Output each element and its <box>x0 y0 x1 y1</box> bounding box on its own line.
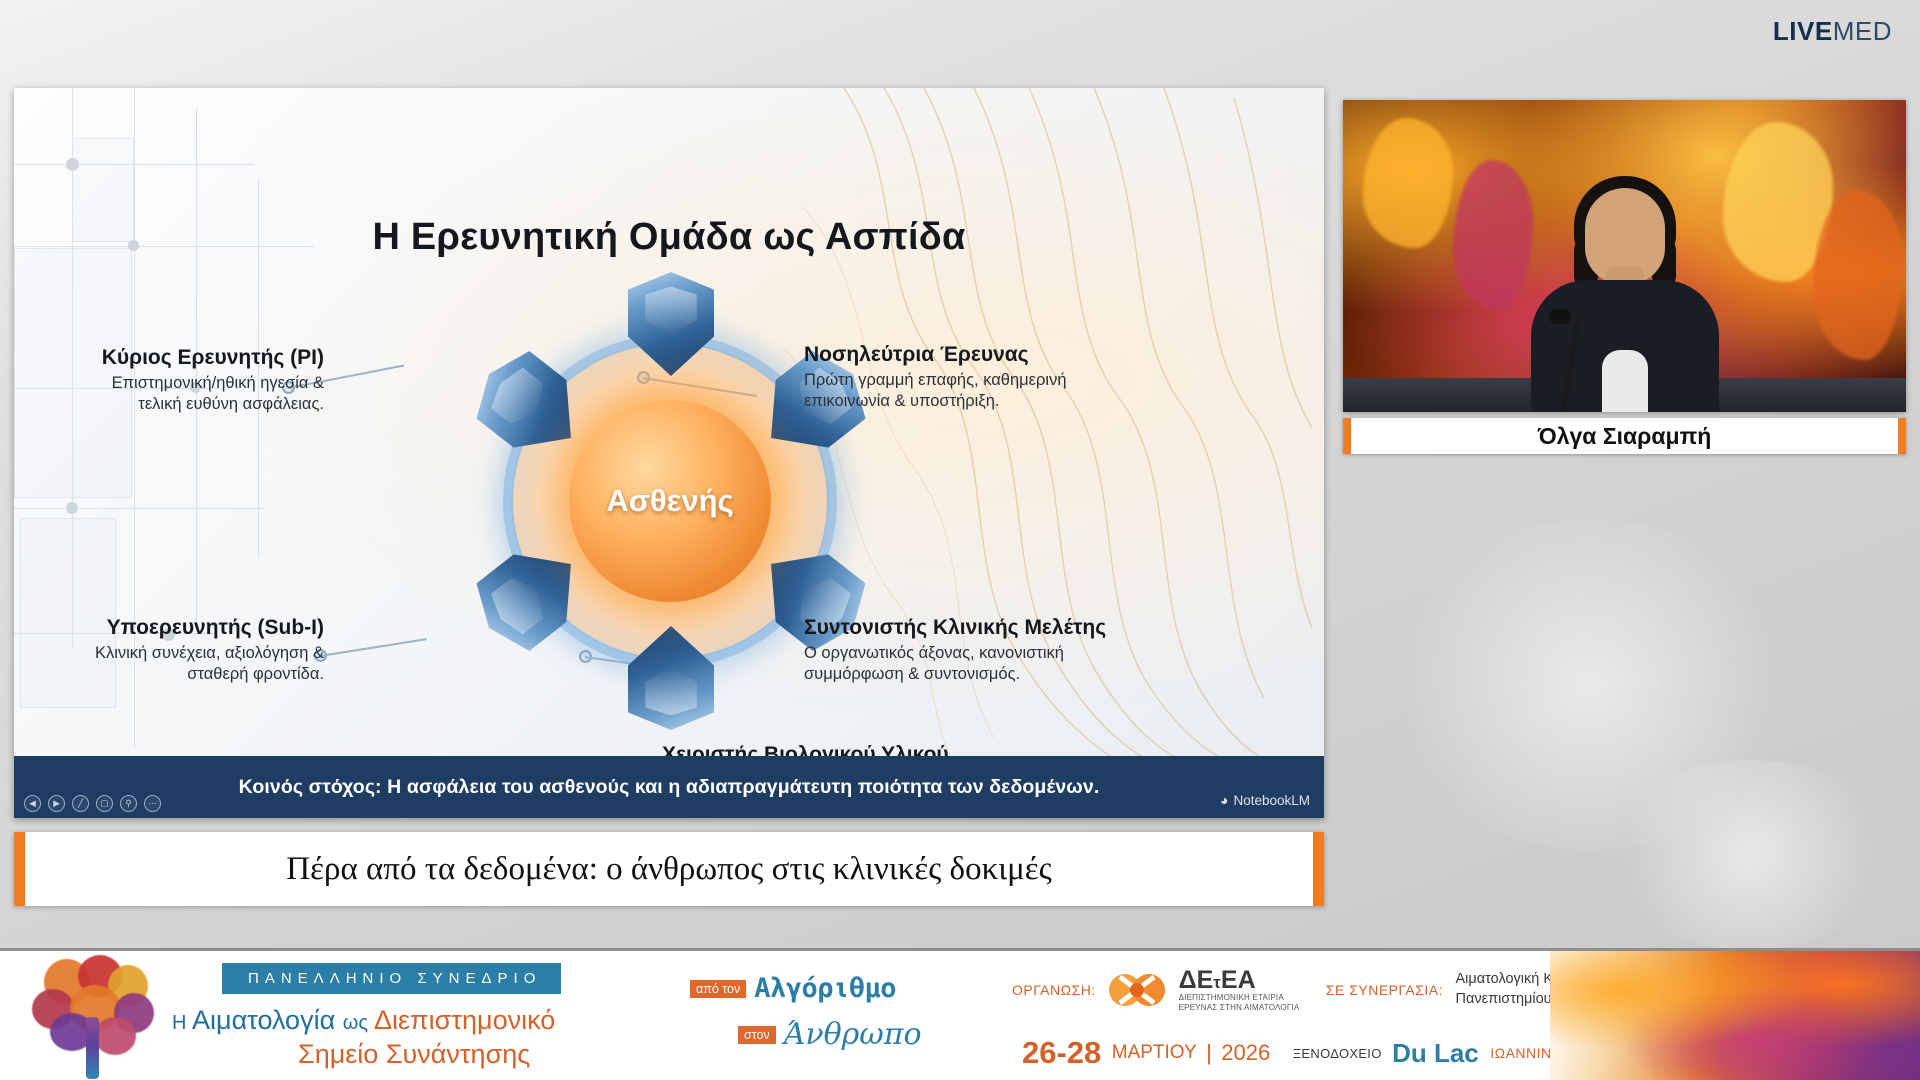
slide-title: Η Ερευνητική Ομάδα ως Ασπίδα <box>14 216 1324 259</box>
livemed-logo: LIVEMED <box>1773 18 1892 44</box>
label-research-nurse: Νοσηλεύτρια Έρευνας Πρώτη γραμμή επαφής,… <box>804 343 1104 412</box>
label-title: Κύριος Ερευνητής (PI) <box>74 346 324 370</box>
label-title: Υποερευνητής (Sub-I) <box>74 616 324 640</box>
tree-trunk <box>86 1017 99 1079</box>
patient-core-label: Ασθενής <box>606 483 733 519</box>
microphone-icon <box>1549 309 1571 324</box>
connector-line <box>320 638 427 656</box>
date-days: 26-28 <box>1022 1035 1101 1070</box>
label-desc: Ο οργανωτικός άξονας, κανονιστική συμμόρ… <box>804 643 1124 685</box>
label-title: Συντονιστής Κλινικής Μελέτης <box>804 616 1124 640</box>
algo-word-algorithm: Αλγόριθμο <box>754 973 896 1004</box>
algo-word-human: Άνθρωπο <box>784 1017 922 1052</box>
previous-icon[interactable]: ◀ <box>24 795 41 812</box>
background-watermark <box>1380 520 1800 850</box>
date-venue-row: 26-28 ΜΑΡΤΙΟΥ | 2026 ΞΕΝΟΔΟΧΕΙΟ Du Lac Ι… <box>1022 1035 1561 1071</box>
detea-name: ΔΕτΕΑ <box>1179 966 1256 994</box>
cooperation-label: ΣΕ ΣΥΝΕΡΓΑΣΙΑ: <box>1326 982 1443 998</box>
detea-subtitle-2: ΕΡΕΥΝΑΣ ΣΤΗΝ ΑΙΜΑΤΟΛΟΓΙΑ <box>1179 1003 1300 1013</box>
slide-player-controls[interactable]: ◀ ▶ ╱ ▢ ⚲ ⋯ <box>24 795 161 812</box>
pen-icon[interactable]: ╱ <box>72 795 89 812</box>
detea-logo-icon <box>1108 967 1166 1013</box>
label-desc: Κλινική συνέχεια, αξιολόγηση & σταθερή φ… <box>74 643 324 685</box>
notebooklm-badge: ◕ NotebookLM <box>1220 792 1310 808</box>
background-watermark <box>1600 760 1900 950</box>
algorithm-row: από τονΑλγόριθμο <box>690 973 896 1004</box>
label-desc: Πρώτη γραμμή επαφής, καθημερινή επικοινω… <box>804 370 1104 412</box>
date-month: ΜΑΡΤΙΟΥ <box>1112 1042 1197 1063</box>
more-icon[interactable]: ⋯ <box>144 795 161 812</box>
livemed-logo-live: LIVE <box>1773 16 1833 46</box>
speaker-shirt <box>1602 350 1648 412</box>
congress-title-line2: Σημείο Συνάντησης <box>298 1039 530 1070</box>
title-part-hematology: Αιματολογία <box>192 1005 335 1035</box>
slide-footer-text: Κοινός στόχος: Η ασφάλεια του ασθενούς κ… <box>239 776 1100 799</box>
speaker-name: Όλγα Σιαραμπή <box>1538 423 1712 450</box>
congress-badge: ΠΑΝΕΛΛΗΝΙΟ ΣΥΝΕΔΡΙΟ <box>222 963 561 994</box>
notebooklm-icon: ◕ <box>1220 792 1228 808</box>
date-separator: | <box>1206 1040 1212 1065</box>
speaker-name-bar: Όλγα Σιαραμπή <box>1343 418 1906 454</box>
label-principal-investigator: Κύριος Ερευνητής (PI) Επιστημονική/ηθική… <box>74 346 324 415</box>
title-part-os: ως <box>343 1012 368 1034</box>
algo-tag-to: στον <box>738 1026 776 1044</box>
livemed-logo-med: MED <box>1833 16 1892 46</box>
venue-label: ΞΕΝΟΔΟΧΕΙΟ <box>1293 1046 1382 1061</box>
speaker-figure <box>1531 196 1719 412</box>
label-study-coordinator: Συντονιστής Κλινικής Μελέτης Ο οργανωτικ… <box>804 616 1124 685</box>
date-year: 2026 <box>1221 1040 1270 1065</box>
conference-banner: ΠΑΝΕΛΛΗΝΙΟ ΣΥΝΕΔΡΙΟ Η Αιματολογία ως Διε… <box>0 948 1920 1080</box>
congress-title-line1: Η Αιματολογία ως Διεπιστημονικό <box>172 1005 555 1036</box>
title-part-interdisciplinary: Διεπιστημονικό <box>374 1005 555 1035</box>
organizer-label: ΟΡΓΑΝΩΣΗ: <box>1012 982 1096 998</box>
slide-background: Η Ερευνητική Ομάδα ως Ασπίδα Ασθενής <box>14 88 1324 818</box>
banner-artwork <box>1550 951 1920 1080</box>
label-sub-investigator: Υποερευνητής (Sub-I) Κλινική συνέχεια, α… <box>74 616 324 685</box>
label-desc: Επιστημονική/ηθική ηγεσία & τελική ευθύν… <box>74 373 324 415</box>
slide-caption-bar: Πέρα από τα δεδομένα: ο άνθρωπος στις κλ… <box>14 832 1324 906</box>
algorithm-to-human-logo: από τονΑλγόριθμο στονΆνθρωπο <box>690 969 950 1069</box>
slide-caption-text: Πέρα από τα δεδομένα: ο άνθρωπος στις κλ… <box>286 851 1051 888</box>
patient-core: Ασθενής <box>569 400 771 602</box>
presentation-slide[interactable]: Η Ερευνητική Ομάδα ως Ασπίδα Ασθενής <box>14 88 1324 818</box>
venue-name: Du Lac <box>1392 1038 1479 1068</box>
notebooklm-label: NotebookLM <box>1233 793 1310 808</box>
organizers-row: ΟΡΓΑΝΩΣΗ: ΔΕτΕΑ ΔΙΕΠΙΣΤΗΜΟΝΙΚΗ ΕΤΑΙΡΙΑ Ε… <box>1012 967 1623 1013</box>
zoom-icon[interactable]: ⚲ <box>120 795 137 812</box>
copy-icon[interactable]: ▢ <box>96 795 113 812</box>
play-icon[interactable]: ▶ <box>48 795 65 812</box>
label-title: Νοσηλεύτρια Έρευνας <box>804 343 1104 367</box>
human-row: στονΆνθρωπο <box>738 1017 922 1052</box>
detea-text-block: ΔΕτΕΑ ΔΙΕΠΙΣΤΗΜΟΝΙΚΗ ΕΤΑΙΡΙΑ ΕΡΕΥΝΑΣ ΣΤΗ… <box>1179 968 1300 1013</box>
title-part-h: Η <box>172 1012 192 1034</box>
detea-subtitle-1: ΔΙΕΠΙΣΤΗΜΟΝΙΚΗ ΕΤΑΙΡΙΑ <box>1179 993 1300 1003</box>
algo-tag-from: από τον <box>690 980 746 998</box>
tree-logo <box>24 955 164 1080</box>
slide-footer-bar: Κοινός στόχος: Η ασφάλεια του ασθενούς κ… <box>14 756 1324 818</box>
speaker-video[interactable] <box>1343 100 1906 412</box>
